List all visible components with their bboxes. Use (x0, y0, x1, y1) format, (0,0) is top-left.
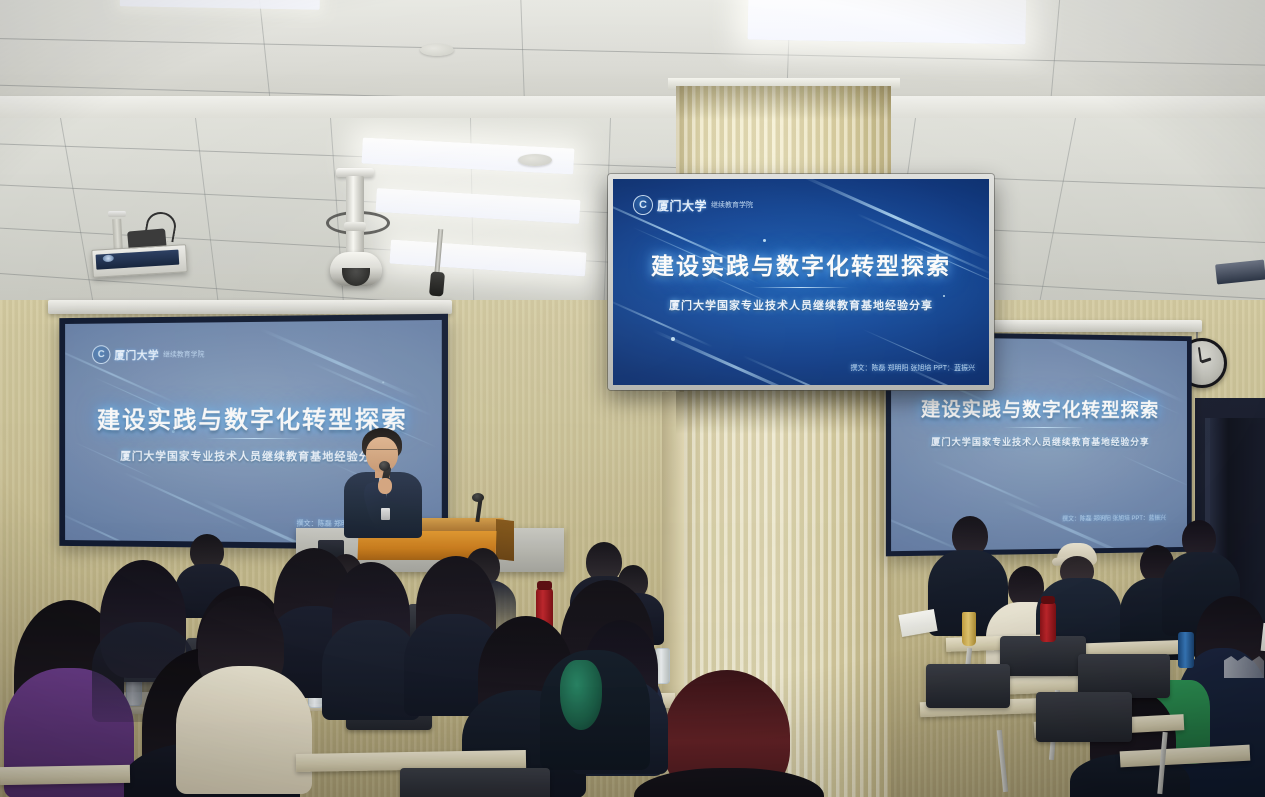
slide-title: 建设实践与数字化转型探索 (613, 247, 989, 281)
chair (400, 768, 550, 797)
thermos-cap (537, 581, 552, 590)
smoke-detector-icon (518, 154, 552, 166)
ceiling-light-panel (389, 240, 586, 277)
clock-center-pin (1201, 360, 1204, 363)
slide-logo-school: 继续教育学院 (163, 349, 204, 359)
slide-divider (1003, 427, 1084, 428)
left-screen-housing (48, 300, 452, 314)
slide-logo-university: 厦门大学 (114, 346, 159, 362)
slide-logo: C 厦门大学 继续教育学院 (92, 344, 204, 364)
red-thermos-flask (1040, 602, 1056, 642)
glasses-icon (367, 449, 397, 457)
ceiling-drop-fixture (429, 271, 445, 296)
slide-divider (206, 438, 302, 439)
camera-pole-collar (344, 222, 366, 231)
blue-water-bottle (1178, 632, 1194, 668)
presenter-badge (381, 508, 390, 520)
slide-credit: 撰文：陈磊 郑明阳 张旭培 PPT：蓝振兴 (1062, 513, 1166, 523)
slide-title: 建设实践与数字化转型探索 (891, 394, 1187, 422)
slide-subtitle: 厦门大学国家专业技术人员继续教育基地经验分享 (613, 297, 989, 313)
thermos-cap (1041, 596, 1055, 604)
gold-tumbler (962, 612, 976, 646)
tv-screen-content: C 厦门大学 继续教育学院 建设实践与数字化转型探索 厦门大学国家专业技术人员继… (613, 179, 989, 385)
wall-mounted-led-display: C 厦门大学 继续教育学院 建设实践与数字化转型探索 厦门大学国家专业技术人员继… (608, 174, 994, 390)
column-shadow (676, 388, 891, 434)
chair (1036, 692, 1132, 742)
smoke-detector-icon (420, 44, 454, 56)
slide-logo: C 厦门大学 继续教育学院 (633, 195, 753, 215)
lecture-hall-photo: C 厦门大学 继续教育学院 建设实践与数字化转型探索 厦门大学国家专业技术人员继… (0, 0, 1265, 797)
desk (0, 765, 130, 785)
chair (926, 664, 1010, 708)
cream-coat (176, 666, 312, 794)
microphone-head-icon (379, 461, 390, 471)
ceiling-light-panel (375, 188, 580, 224)
green-scarf (560, 660, 602, 730)
microphone-head-icon (472, 493, 484, 502)
jacket-lettering (1224, 656, 1264, 678)
slide-credit: 撰文：陈磊 郑明阳 张旭培 PPT：蓝振兴 (851, 363, 975, 373)
column-top-shadow (676, 86, 891, 120)
ceiling-projector (91, 244, 188, 278)
slide-logo-university: 厦门大学 (657, 197, 707, 214)
university-seal-icon: C (92, 345, 110, 364)
slide-subtitle: 厦门大学国家专业技术人员继续教育基地经验分享 (891, 435, 1187, 448)
lectern-side (496, 519, 514, 561)
projector-ceiling-plate (108, 211, 126, 217)
university-seal-icon: C (633, 195, 653, 215)
ceiling-upper-section (0, 0, 1265, 108)
presenter-hand (378, 478, 392, 494)
chair (1000, 636, 1086, 676)
slide-logo-school: 继续教育学院 (711, 200, 753, 210)
projector-mount-pole (112, 219, 123, 251)
slide-divider (753, 287, 849, 288)
